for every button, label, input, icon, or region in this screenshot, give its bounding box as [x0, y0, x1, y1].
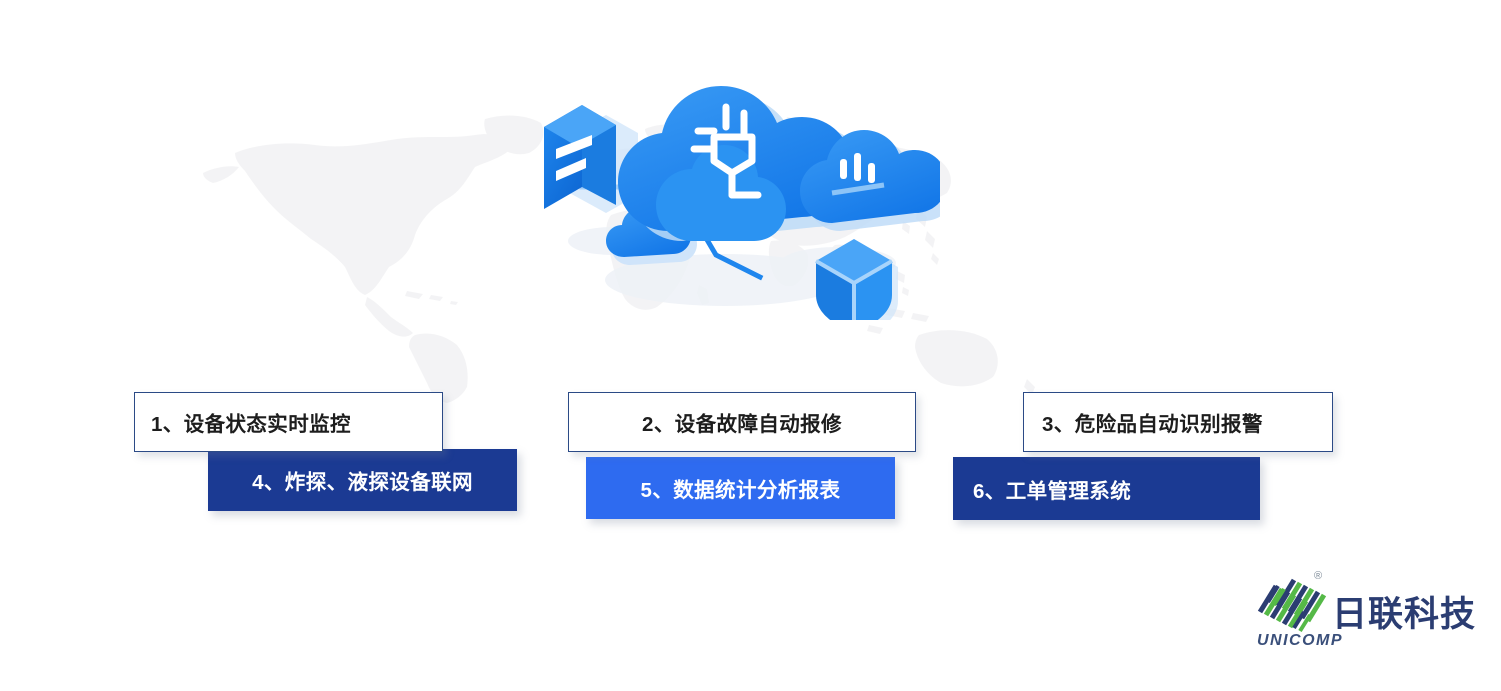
feature-box-3-label: 3、危险品自动识别报警 [1042, 407, 1263, 437]
feature-box-6-label: 6、工单管理系统 [973, 474, 1131, 504]
feature-box-2-label: 2、设备故障自动报修 [642, 407, 842, 437]
feature-box-2[interactable]: 2、设备故障自动报修 [568, 392, 916, 452]
cloud-network-illustration [520, 45, 940, 320]
feature-box-4[interactable]: 4、炸探、液探设备联网 [208, 449, 517, 511]
feature-box-5[interactable]: 5、数据统计分析报表 [586, 457, 895, 519]
feature-box-1-label: 1、设备状态实时监控 [151, 407, 351, 437]
slide-canvas: 1、设备状态实时监控 2、设备故障自动报修 3、危险品自动识别报警 4、炸探、液… [0, 0, 1501, 691]
logo-name-cn: 日联科技 [1332, 586, 1476, 637]
feature-box-3[interactable]: 3、危险品自动识别报警 [1023, 392, 1333, 452]
feature-box-6[interactable]: 6、工单管理系统 [953, 457, 1260, 520]
feature-box-5-label: 5、数据统计分析报表 [641, 473, 841, 503]
registered-mark: ® [1314, 570, 1322, 582]
logo-name-en: UNICOMP [1257, 632, 1343, 650]
company-logo: ® 日联科技 UNICOMP [1252, 570, 1457, 660]
feature-box-4-label: 4、炸探、液探设备联网 [252, 465, 473, 495]
feature-box-1[interactable]: 1、设备状态实时监控 [134, 392, 443, 452]
